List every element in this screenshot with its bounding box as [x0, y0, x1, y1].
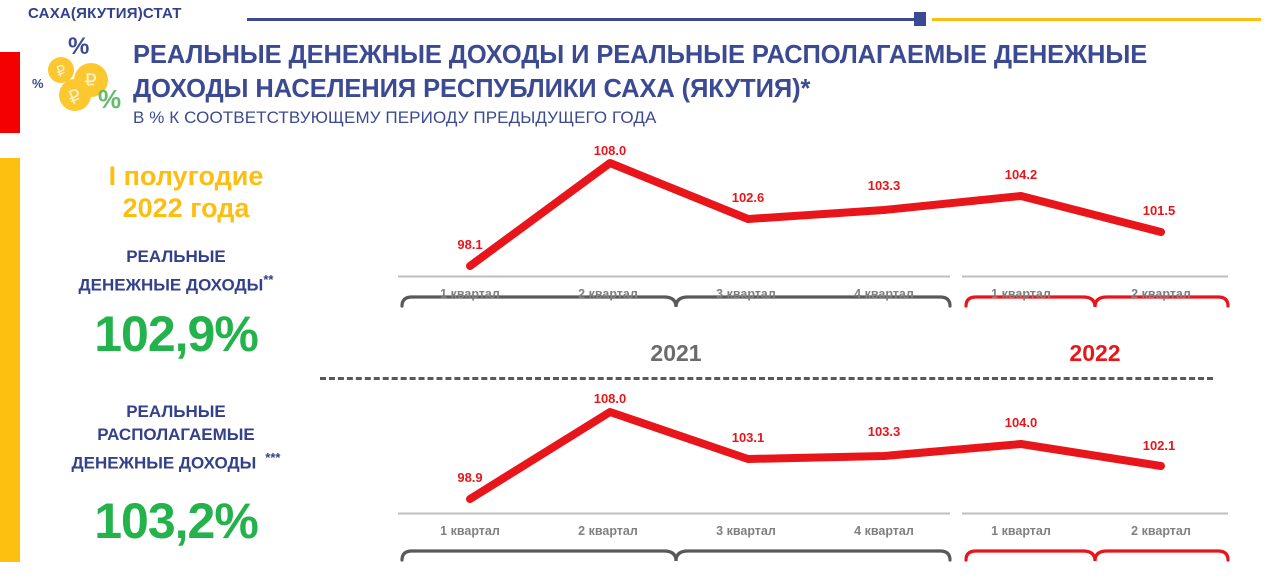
- data-label-top-1: 108.0: [575, 143, 645, 158]
- header-rule-yellow: [932, 18, 1261, 21]
- data-label-bottom-2: 103.1: [713, 430, 783, 445]
- infographic-root: САХА(ЯКУТИЯ)СТАТ % % ₽ ₽ ₽ % РЕАЛЬНЫЕ ДЕ…: [0, 0, 1273, 583]
- x-tick-top-5: 2 квартал: [1101, 287, 1221, 301]
- svg-text:%: %: [68, 33, 89, 60]
- footnote-marker: **: [263, 272, 273, 287]
- data-label-top-3: 103.3: [849, 178, 919, 193]
- chart-bottom-disposable-income: [398, 412, 1228, 561]
- data-label-bottom-1: 108.0: [575, 391, 645, 406]
- period-line-2: 2022 года: [40, 192, 332, 224]
- metric-label-line-1: РЕАЛЬНЫЕ: [16, 400, 336, 423]
- section-divider: [320, 377, 1213, 380]
- period-line-1: I полугодие: [40, 160, 332, 192]
- data-label-bottom-4: 104.0: [986, 415, 1056, 430]
- data-label-top-0: 98.1: [435, 237, 505, 252]
- x-tick-bottom-2: 3 квартал: [686, 524, 806, 538]
- header-rule-navy: [247, 18, 915, 21]
- brand-title: САХА(ЯКУТИЯ)СТАТ: [28, 5, 182, 22]
- data-label-bottom-3: 103.3: [849, 424, 919, 439]
- year-bracket-label-2022-top: 2022: [1025, 340, 1165, 367]
- metric-value-real-income: 102,9%: [16, 305, 336, 363]
- data-label-top-5: 101.5: [1124, 203, 1194, 218]
- header-rule-square-marker: [914, 12, 926, 26]
- page-subtitle: В % К СООТВЕТСТВУЮЩЕМУ ПЕРИОДУ ПРЕДЫДУЩЕ…: [133, 108, 656, 128]
- brace-2021-bottom: [402, 551, 950, 561]
- accent-bar-red: [0, 52, 20, 133]
- metric-value-disposable-income: 103,2%: [16, 492, 336, 550]
- year-bracket-label-2021-top: 2021: [606, 340, 746, 367]
- data-label-bottom-0: 98.9: [435, 470, 505, 485]
- metric-label-line-2: ДЕНЕЖНЫЕ ДОХОДЫ**: [16, 268, 336, 297]
- series-line-top: [470, 163, 1161, 266]
- x-tick-top-4: 1 квартал: [961, 287, 1081, 301]
- svg-text:%: %: [32, 76, 44, 91]
- brace-2022-bottom: [966, 551, 1228, 561]
- metric-label-disposable-income: РЕАЛЬНЫЕ РАСПОЛАГАЕМЫЕ ДЕНЕЖНЫЕ ДОХОДЫ**…: [16, 400, 336, 475]
- coins-percent-icon: % % ₽ ₽ ₽ %: [32, 32, 132, 116]
- x-tick-bottom-3: 4 квартал: [824, 524, 944, 538]
- x-tick-bottom-1: 2 квартал: [548, 524, 668, 538]
- x-tick-top-1: 2 квартал: [548, 287, 668, 301]
- metric-label-line-1: РЕАЛЬНЫЕ: [16, 245, 336, 268]
- chart-top-real-income: [398, 163, 1228, 307]
- data-label-top-2: 102.6: [713, 190, 783, 205]
- metric-label-line-3: ДЕНЕЖНЫЕ ДОХОДЫ***: [16, 446, 336, 475]
- metric-label-line-2: РАСПОЛАГАЕМЫЕ: [16, 423, 336, 446]
- page-title: РЕАЛЬНЫЕ ДЕНЕЖНЫЕ ДОХОДЫ И РЕАЛЬНЫЕ РАСП…: [133, 38, 1243, 106]
- x-tick-top-2: 3 квартал: [686, 287, 806, 301]
- period-label: I полугодие 2022 года: [40, 160, 332, 224]
- x-tick-bottom-0: 1 квартал: [410, 524, 530, 538]
- footnote-marker: ***: [265, 450, 280, 465]
- series-line-bottom: [470, 412, 1161, 499]
- svg-text:%: %: [98, 84, 121, 114]
- x-tick-top-0: 1 квартал: [410, 287, 530, 301]
- metric-label-real-income: РЕАЛЬНЫЕ ДЕНЕЖНЫЕ ДОХОДЫ**: [16, 245, 336, 297]
- data-label-top-4: 104.2: [986, 167, 1056, 182]
- x-tick-bottom-5: 2 квартал: [1101, 524, 1221, 538]
- x-tick-bottom-4: 1 квартал: [961, 524, 1081, 538]
- x-tick-top-3: 4 квартал: [824, 287, 944, 301]
- data-label-bottom-5: 102.1: [1124, 438, 1194, 453]
